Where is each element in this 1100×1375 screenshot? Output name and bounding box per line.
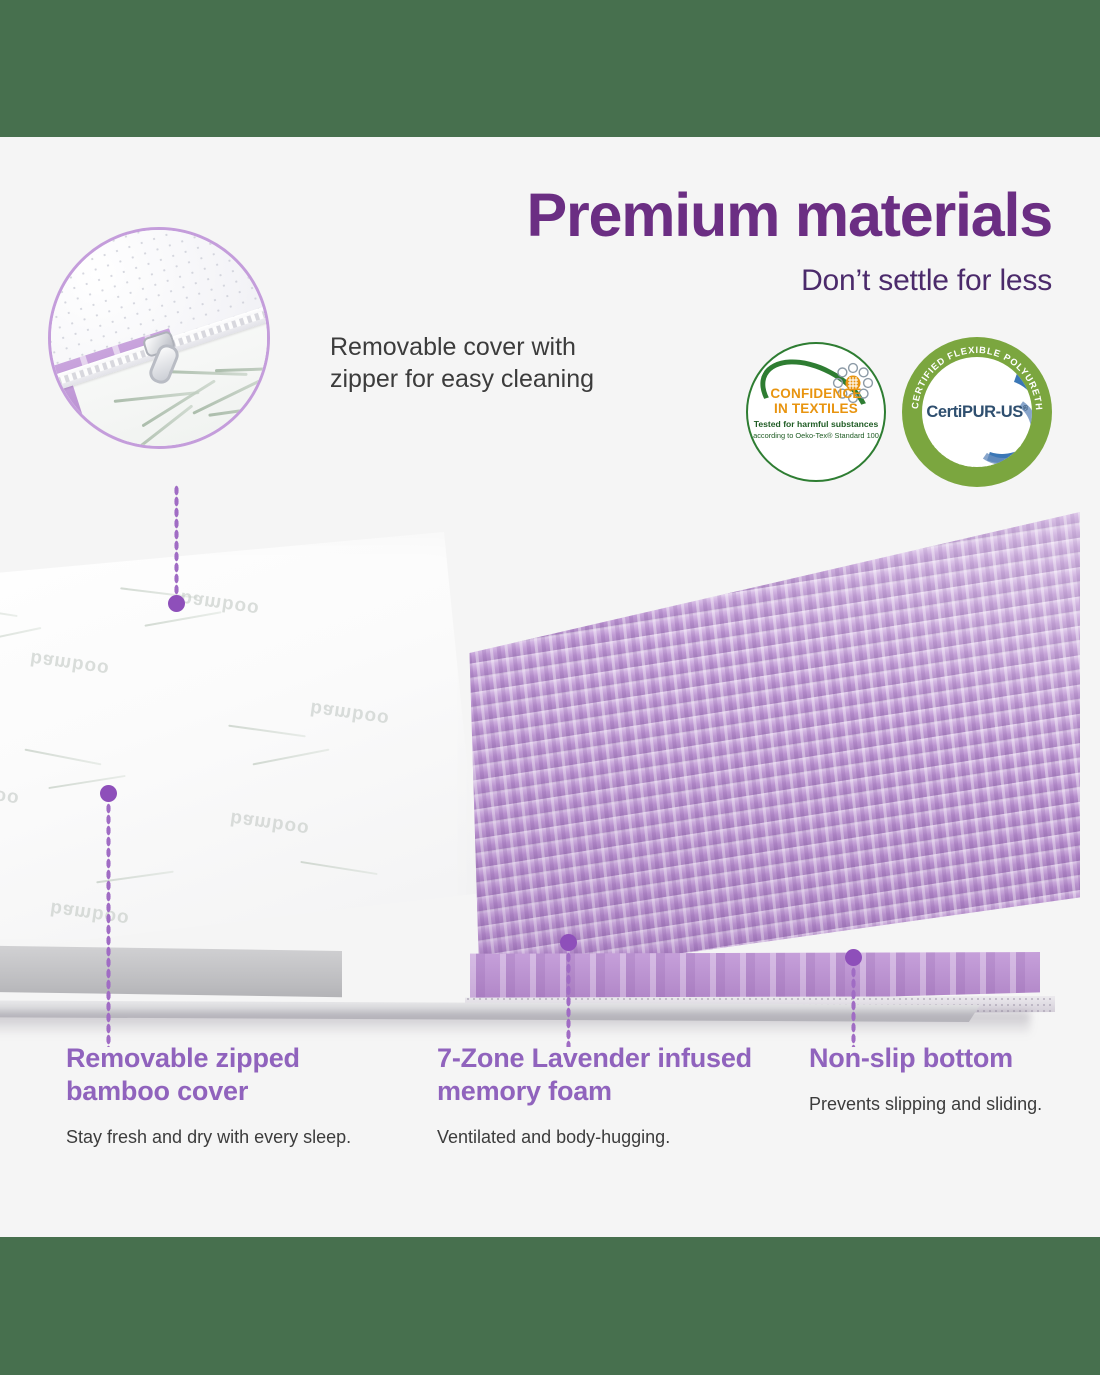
anchor-dot-zipper: [168, 595, 185, 612]
zipper-closeup-inset: [48, 227, 270, 449]
connector-line-zipper: [174, 485, 179, 600]
page-title: Premium materials: [527, 185, 1052, 246]
feature-title: 7-Zone Lavender infused memory foam: [437, 1042, 767, 1108]
certipur-registered-mark: ®: [1023, 405, 1028, 412]
feature-item-cover: Removable zipped bamboo cover Stay fresh…: [66, 1042, 396, 1149]
feature-title: Non-slip bottom: [809, 1042, 1079, 1075]
connector-line-foam: [566, 952, 571, 1047]
inset-callout-text: Removable cover with zipper for easy cle…: [330, 332, 630, 395]
anchor-dot-nonslip: [845, 949, 862, 966]
foam-shading: [420, 512, 1080, 982]
certipur-wordmark: CertiPUR-US: [926, 403, 1022, 421]
eggcrate-foam-surface: [420, 512, 1080, 982]
feature-description: Prevents slipping and sliding.: [809, 1093, 1079, 1116]
certification-badges: CONFIDENCE IN TEXTILES Tested for harmfu…: [746, 337, 1052, 487]
feature-title: Removable zipped bamboo cover: [66, 1042, 396, 1108]
anchor-dot-foam: [560, 934, 577, 951]
bottom-green-band: [0, 1237, 1100, 1375]
page-subtitle: Don’t settle for less: [527, 264, 1052, 298]
heading-block: Premium materials Don’t settle for less: [527, 185, 1052, 298]
oeko-line1: CONFIDENCE: [770, 386, 861, 401]
feature-description: Stay fresh and dry with every sleep.: [66, 1126, 396, 1149]
certipur-badge: CONTAINS CERTIFIED FLEXIBLE POLYURETHANE…: [902, 337, 1052, 487]
oeko-line4: according to Oeko-Tex® Standard 100: [753, 432, 879, 441]
feature-item-foam: 7-Zone Lavender infused memory foam Vent…: [437, 1042, 767, 1149]
oeko-line2: IN TEXTILES: [774, 401, 858, 416]
oeko-tex-badge: CONFIDENCE IN TEXTILES Tested for harmfu…: [746, 342, 886, 482]
feature-description: Ventilated and body-hugging.: [437, 1126, 767, 1149]
connector-line-cover: [106, 803, 111, 1047]
oeko-line3: Tested for harmful substances: [753, 420, 879, 430]
top-green-band: [0, 0, 1100, 137]
product-image: bamboo bamboo bamboo bamboo bamboo bambo…: [0, 512, 1100, 1022]
feature-item-nonslip: Non-slip bottom Prevents slipping and sl…: [809, 1042, 1079, 1116]
ground-shadow: [0, 1012, 1030, 1036]
feature-list: Removable zipped bamboo cover Stay fresh…: [0, 1042, 1100, 1227]
anchor-dot-cover: [100, 785, 117, 802]
connector-line-nonslip: [851, 967, 856, 1047]
infographic-stage: Premium materials Don’t settle for less …: [0, 137, 1100, 1237]
